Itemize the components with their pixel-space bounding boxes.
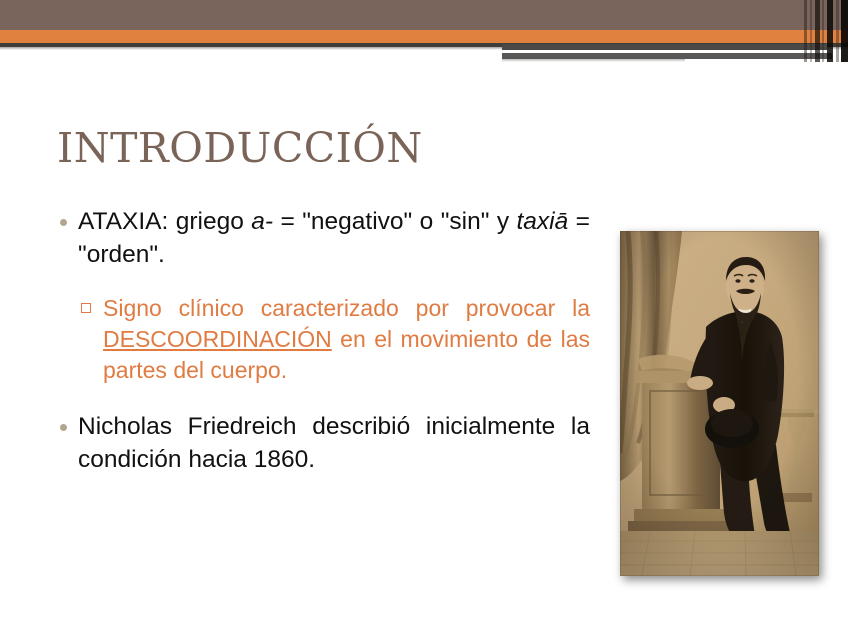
bullet-text-segment: Signo clínico caracterizado por provocar… [103,295,590,321]
slide-content: ATAXIA: griego a- = "negativo" o "sin" y… [0,205,615,476]
page-title: INTRODUCCIÓN [57,124,423,172]
bullet-text-segment: = "negativo" o "sin" y [273,208,516,235]
content-spacer [0,386,615,410]
bullet-text-segment: Nicholas Friedreich describió inicialmen… [78,413,590,473]
content-spacer [0,271,615,293]
bullet-item-ataxia: ATAXIA: griego a- = "negativo" o "sin" y… [0,205,615,271]
bullet-text-italic-taxia: taxiā [517,208,569,235]
header-brown-band [0,0,848,30]
bullet-text-underlined-descoordinacion: DESCOORDINACIÓN [103,326,332,352]
portrait-image [620,231,819,576]
bullet-text-segment: ATAXIA: griego [78,208,251,235]
bullet-text-italic-a: a- [251,208,273,235]
nicholas-friedreich-photo [620,231,819,576]
header-orange-band [0,30,848,43]
header-right-stripes [800,0,848,62]
bullet-item-signo-clinico: Signo clínico caracterizado por provocar… [0,293,615,386]
bullet-item-friedreich: Nicholas Friedreich describió inicialmen… [0,410,615,476]
